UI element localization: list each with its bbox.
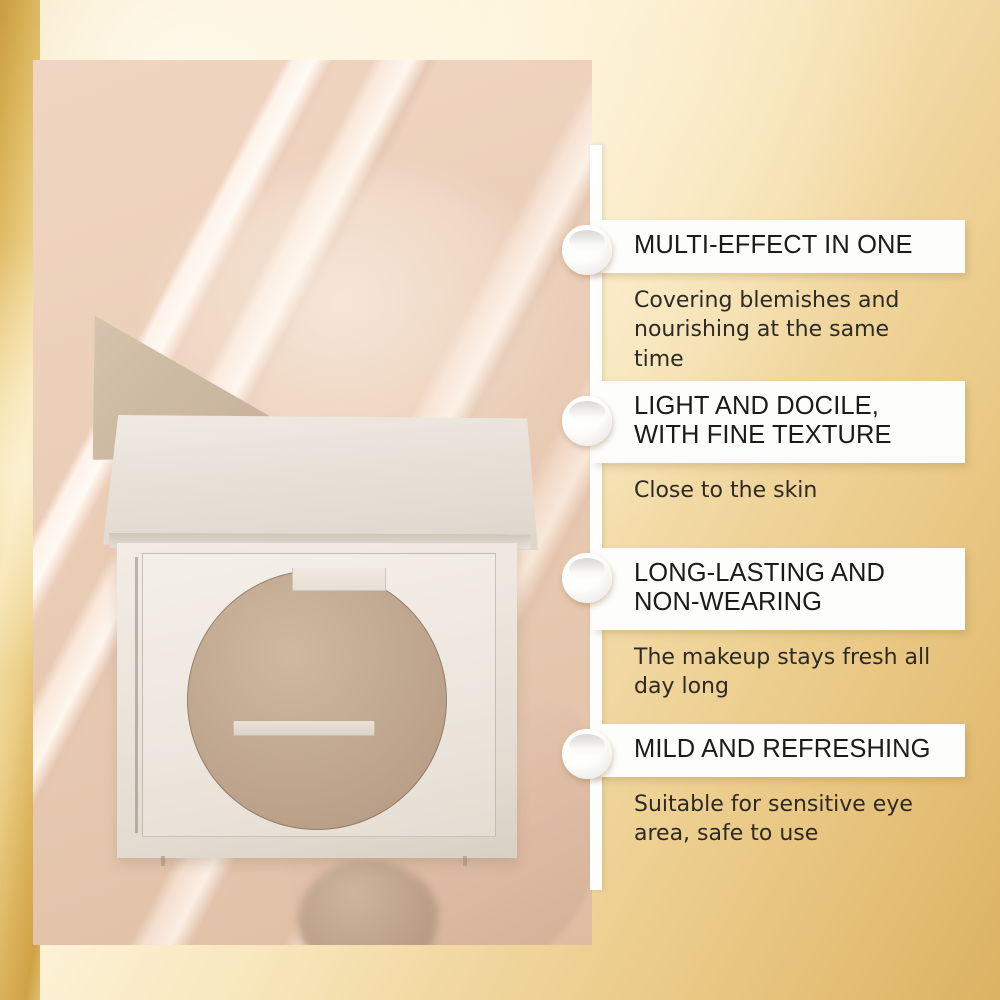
feature-marker-icon-2 <box>562 396 612 446</box>
feature-title-3: LONG-LASTING AND NON-WEARING <box>634 559 951 617</box>
feature-description-4: Suitable for sensitive eye area, safe to… <box>592 777 965 849</box>
feature-marker-icon-3 <box>562 553 612 603</box>
feature-title-4: MILD AND REFRESHING <box>634 735 951 764</box>
feature-marker-icon-4 <box>562 729 612 779</box>
feature-item-1: MULTI-EFFECT IN ONE Covering blemishes a… <box>592 220 965 374</box>
feature-title-bar-1: MULTI-EFFECT IN ONE <box>592 220 965 273</box>
feature-title-1: MULTI-EFFECT IN ONE <box>634 231 951 260</box>
feature-description-2: Close to the skin <box>592 463 965 505</box>
feature-list: MULTI-EFFECT IN ONE Covering blemishes a… <box>0 0 1000 1000</box>
feature-description-1: Covering blemishes and nourishing at the… <box>592 273 965 374</box>
feature-title-bar-2: LIGHT AND DOCILE, WITH FINE TEXTURE <box>592 381 965 463</box>
feature-marker-icon-1 <box>562 225 612 275</box>
feature-item-3: LONG-LASTING AND NON-WEARING The makeup … <box>592 548 965 702</box>
feature-title-bar-3: LONG-LASTING AND NON-WEARING <box>592 548 965 630</box>
feature-title-2: LIGHT AND DOCILE, WITH FINE TEXTURE <box>634 392 951 450</box>
feature-item-4: MILD AND REFRESHING Suitable for sensiti… <box>592 724 965 849</box>
feature-title-bar-4: MILD AND REFRESHING <box>592 724 965 777</box>
feature-description-3: The makeup stays fresh all day long <box>592 630 965 702</box>
product-infographic-poster: MULTI-EFFECT IN ONE Covering blemishes a… <box>0 0 1000 1000</box>
feature-item-2: LIGHT AND DOCILE, WITH FINE TEXTURE Clos… <box>592 381 965 505</box>
